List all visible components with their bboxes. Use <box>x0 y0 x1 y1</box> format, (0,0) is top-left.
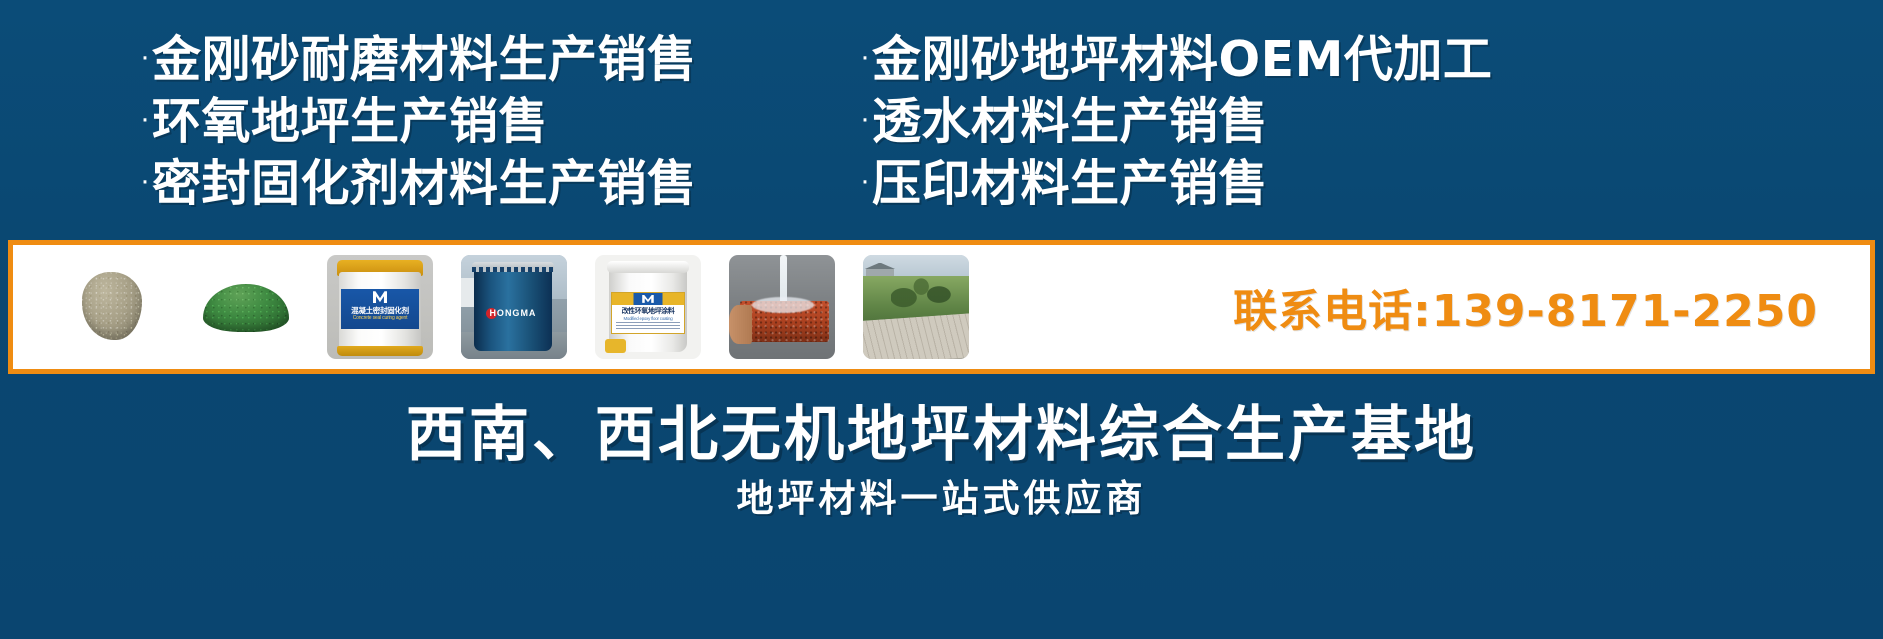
powder-speckle-texture <box>59 255 165 359</box>
drum-rim-shape <box>472 262 555 271</box>
services-left-column: · 金刚砂耐磨材料生产销售 · 环氧地坪生产销售 · 密封固化剂材料生产销售 <box>140 34 860 230</box>
bullet-icon: · <box>860 42 870 72</box>
product-thumb-epoxy-floor-coating-pail: 改性环氧地坪涂料 Modified epoxy floor coating <box>595 255 701 359</box>
service-label: 环氧地坪生产销售 <box>152 96 548 147</box>
label-fine-print <box>616 322 680 331</box>
pail-label: 改性环氧地坪涂料 Modified epoxy floor coating <box>611 292 685 334</box>
service-item-permeable-material: · 透水材料生产销售 <box>860 96 1620 158</box>
product-thumb-hongma-blue-drum: HONGMA <box>461 255 567 359</box>
service-label: 压印材料生产销售 <box>872 158 1268 209</box>
pail-label-cn: 改性环氧地坪涂料 <box>612 306 684 316</box>
contact-phone[interactable]: 联系电话:139-8171-2250 <box>1233 275 1818 339</box>
services-right-column: · 金刚砂地坪材料OEM代加工 · 透水材料生产销售 · 压印材料生产销售 <box>860 34 1620 230</box>
pail-lid-shape <box>607 261 690 272</box>
powder-speckle-texture <box>193 255 299 359</box>
pail-label: 混凝土密封固化剂 Concrete seal curing agent <box>341 289 419 329</box>
product-thumb-green-abrasive-powder <box>193 255 299 359</box>
banner-subheadline: 地坪材料一站式供应商 <box>0 468 1883 522</box>
service-item-abrasive-wear-resistant: · 金刚砂耐磨材料生产销售 <box>140 34 860 96</box>
bullet-icon: · <box>140 104 150 134</box>
promo-banner: · 金刚砂耐磨材料生产销售 · 环氧地坪生产销售 · 密封固化剂材料生产销售 ·… <box>0 0 1883 639</box>
product-thumbnail-list: 混凝土密封固化剂 Concrete seal curing agent HONG… <box>59 255 969 359</box>
pail-base-shape <box>337 346 424 356</box>
service-item-epoxy-floor: · 环氧地坪生产销售 <box>140 96 860 158</box>
bullet-icon: · <box>860 166 870 196</box>
pail-yellow-base-shape <box>605 339 626 353</box>
water-pool-shape <box>752 297 813 314</box>
bullet-icon: · <box>140 166 150 196</box>
service-item-oem-processing: · 金刚砂地坪材料OEM代加工 <box>860 34 1620 96</box>
product-thumb-concrete-sealer-pail: 混凝土密封固化剂 Concrete seal curing agent <box>327 255 433 359</box>
service-label: 金刚砂地坪材料OEM代加工 <box>872 34 1492 85</box>
bullet-icon: · <box>860 104 870 134</box>
drum-brand-label: HONGMA <box>474 308 552 318</box>
pail-label-en: Modified epoxy floor coating <box>612 316 684 321</box>
service-label: 透水材料生产销售 <box>872 96 1268 147</box>
service-item-stamped-material: · 压印材料生产销售 <box>860 158 1620 220</box>
hand-shape <box>729 305 752 345</box>
label-banner-shape <box>612 293 684 305</box>
services-section: · 金刚砂耐磨材料生产销售 · 环氧地坪生产销售 · 密封固化剂材料生产销售 ·… <box>0 34 1883 230</box>
service-item-sealing-curing-agent: · 密封固化剂材料生产销售 <box>140 158 860 220</box>
banner-headline: 西南、西北无机地坪材料综合生产基地 <box>0 386 1883 473</box>
service-label: 密封固化剂材料生产销售 <box>152 158 697 209</box>
product-strip: 混凝土密封固化剂 Concrete seal curing agent HONG… <box>8 240 1875 374</box>
pail-label-en: Concrete seal curing agent <box>341 315 419 321</box>
walkway-photo-trees <box>891 261 955 321</box>
hongma-m-logo-icon <box>373 291 387 303</box>
service-label: 金刚砂耐磨材料生产销售 <box>152 34 697 85</box>
product-thumb-grey-abrasive-powder <box>59 255 165 359</box>
product-thumb-permeable-concrete-block <box>729 255 835 359</box>
walkway-paving-shape <box>863 313 969 359</box>
bullet-icon: · <box>140 42 150 72</box>
drum-body-shape: HONGMA <box>474 265 552 350</box>
product-thumb-paved-walkway <box>863 255 969 359</box>
